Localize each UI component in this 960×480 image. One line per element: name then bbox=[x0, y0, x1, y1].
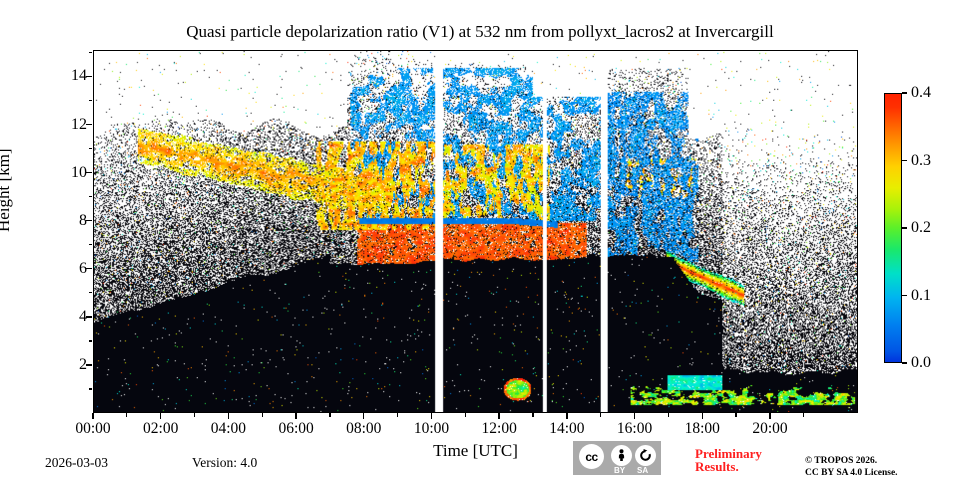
colorbar-tick-label: 0.4 bbox=[911, 84, 931, 102]
y-minor-tick bbox=[89, 100, 93, 101]
colorbar-tick-label: 0.2 bbox=[911, 219, 931, 237]
x-minor-tick bbox=[126, 413, 127, 417]
colorbar-tick bbox=[902, 295, 907, 296]
x-minor-tick bbox=[329, 413, 330, 417]
y-minor-tick bbox=[89, 244, 93, 245]
x-tick bbox=[498, 413, 499, 419]
x-tick-label: 14:00 bbox=[549, 420, 584, 438]
x-tick-label: 20:00 bbox=[752, 420, 787, 438]
footer-version: Version: 4.0 bbox=[192, 455, 257, 471]
cc-sa-label: SA bbox=[637, 466, 648, 475]
x-minor-tick bbox=[532, 413, 533, 417]
x-tick bbox=[363, 413, 364, 419]
license-line: CC BY SA 4.0 License. bbox=[805, 467, 960, 479]
x-tick bbox=[566, 413, 567, 419]
x-tick bbox=[702, 413, 703, 419]
footer-date: 2026-03-03 bbox=[45, 455, 108, 471]
x-tick bbox=[634, 413, 635, 419]
person-glyph bbox=[614, 448, 629, 463]
x-tick bbox=[92, 413, 93, 419]
cc-by-label: BY bbox=[614, 466, 625, 475]
y-minor-tick bbox=[89, 340, 93, 341]
y-minor-tick bbox=[89, 196, 93, 197]
y-tick-label: 8 bbox=[27, 212, 87, 230]
x-tick-label: 00:00 bbox=[75, 420, 110, 438]
y-minor-tick bbox=[89, 148, 93, 149]
preliminary-results-note: Preliminary Results. bbox=[695, 447, 800, 473]
colorbar-tick-label: 0.1 bbox=[911, 287, 931, 305]
x-tick-label: 02:00 bbox=[143, 420, 178, 438]
depolarization-heatmap bbox=[94, 51, 857, 412]
y-tick-label: 6 bbox=[27, 260, 87, 278]
copyright-line: © TROPOS 2026. bbox=[805, 455, 960, 467]
x-tick bbox=[295, 413, 296, 419]
cc-icon-row: cc BY SA bbox=[573, 441, 661, 465]
attribution-person-icon bbox=[611, 445, 632, 466]
copyright-license: © TROPOS 2026. CC BY SA 4.0 License. bbox=[805, 455, 960, 479]
colorbar-tick bbox=[902, 227, 907, 228]
x-tick-label: 06:00 bbox=[278, 420, 313, 438]
x-tick-label: 04:00 bbox=[211, 420, 246, 438]
y-axis-title: Height [km] bbox=[0, 148, 14, 232]
circular-arrow-glyph bbox=[638, 448, 653, 463]
cc-logo-icon: cc bbox=[579, 444, 604, 469]
colorbar-tick bbox=[902, 362, 907, 363]
share-alike-icon bbox=[635, 445, 656, 466]
x-tick-label: 18:00 bbox=[685, 420, 720, 438]
y-tick-label: 10 bbox=[27, 164, 87, 182]
figure-title: Quasi particle depolarization ratio (V1)… bbox=[0, 22, 960, 42]
y-minor-tick bbox=[89, 52, 93, 53]
x-minor-tick bbox=[668, 413, 669, 417]
y-tick-label: 14 bbox=[27, 67, 87, 85]
colorbar-tick-label: 0.3 bbox=[911, 152, 931, 170]
creative-commons-badge-icon[interactable]: cc BY SA bbox=[573, 441, 661, 475]
x-minor-tick bbox=[194, 413, 195, 417]
colorbar-tick bbox=[902, 92, 907, 93]
y-tick-label: 2 bbox=[27, 356, 87, 374]
colorbar-tick bbox=[902, 160, 907, 161]
colorbar-tick-label: 0.0 bbox=[911, 354, 931, 372]
y-minor-tick bbox=[89, 388, 93, 389]
x-tick-label: 10:00 bbox=[414, 420, 449, 438]
x-tick bbox=[769, 413, 770, 419]
x-minor-tick bbox=[600, 413, 601, 417]
x-tick-label: 08:00 bbox=[346, 420, 381, 438]
x-minor-tick bbox=[735, 413, 736, 417]
y-minor-tick bbox=[89, 292, 93, 293]
x-minor-tick bbox=[803, 413, 804, 417]
colorbar bbox=[884, 93, 902, 363]
x-tick-label: 16:00 bbox=[617, 420, 652, 438]
plot-area[interactable] bbox=[93, 50, 858, 413]
x-minor-tick bbox=[262, 413, 263, 417]
y-tick-label: 12 bbox=[27, 116, 87, 134]
x-minor-tick bbox=[465, 413, 466, 417]
x-tick bbox=[431, 413, 432, 419]
x-tick bbox=[160, 413, 161, 419]
x-minor-tick bbox=[397, 413, 398, 417]
x-tick bbox=[228, 413, 229, 419]
cc-logo-text: cc bbox=[585, 450, 597, 464]
x-tick-label: 12:00 bbox=[482, 420, 517, 438]
y-tick-label: 4 bbox=[27, 308, 87, 326]
lidar-quicklook-figure: Quasi particle depolarization ratio (V1)… bbox=[0, 0, 960, 480]
